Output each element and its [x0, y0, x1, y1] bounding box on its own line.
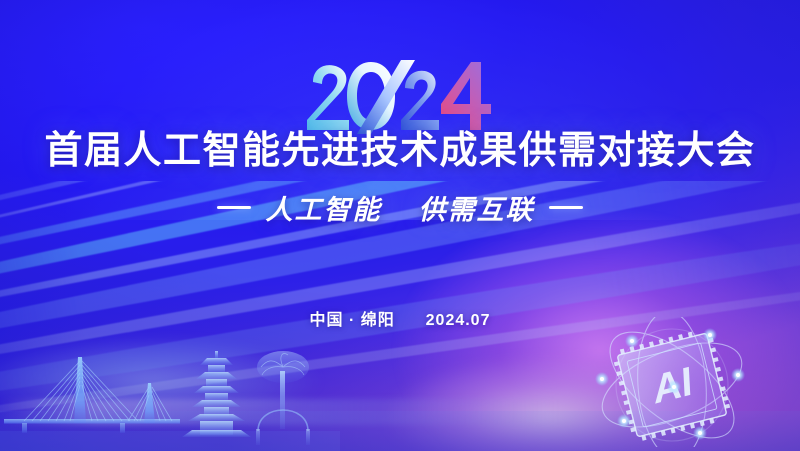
page-title: 首届人工智能先进技术成果供需对接大会 [0, 127, 800, 175]
conference-poster: AI [0, 0, 800, 451]
orbit-dot [698, 431, 702, 435]
subtitle-dash-right [549, 206, 583, 209]
year-logo-2024 [305, 58, 495, 136]
orbit-dot [622, 419, 626, 423]
orbit-dot [672, 385, 676, 389]
subtitle-row: 人工智能 供需互联 [0, 188, 800, 227]
subtitle-right-text: 供需互联 [419, 195, 535, 225]
orbit-dot [736, 373, 740, 377]
subtitle-dash-left [217, 206, 251, 209]
orbit-dot [630, 339, 634, 343]
city-skyline-silhouette [0, 331, 340, 451]
orbit-dot [600, 377, 604, 381]
event-date: 2024.07 [426, 312, 491, 329]
orbit-dot [708, 333, 712, 337]
subtitle: 人工智能 供需互联 [265, 188, 534, 227]
event-meta: 中国 · 绵阳 2024.07 [0, 306, 800, 330]
ai-chip-graphic: AI [580, 317, 770, 447]
subtitle-left-text: 人工智能 [265, 195, 381, 225]
event-location: 中国 · 绵阳 [310, 312, 395, 329]
